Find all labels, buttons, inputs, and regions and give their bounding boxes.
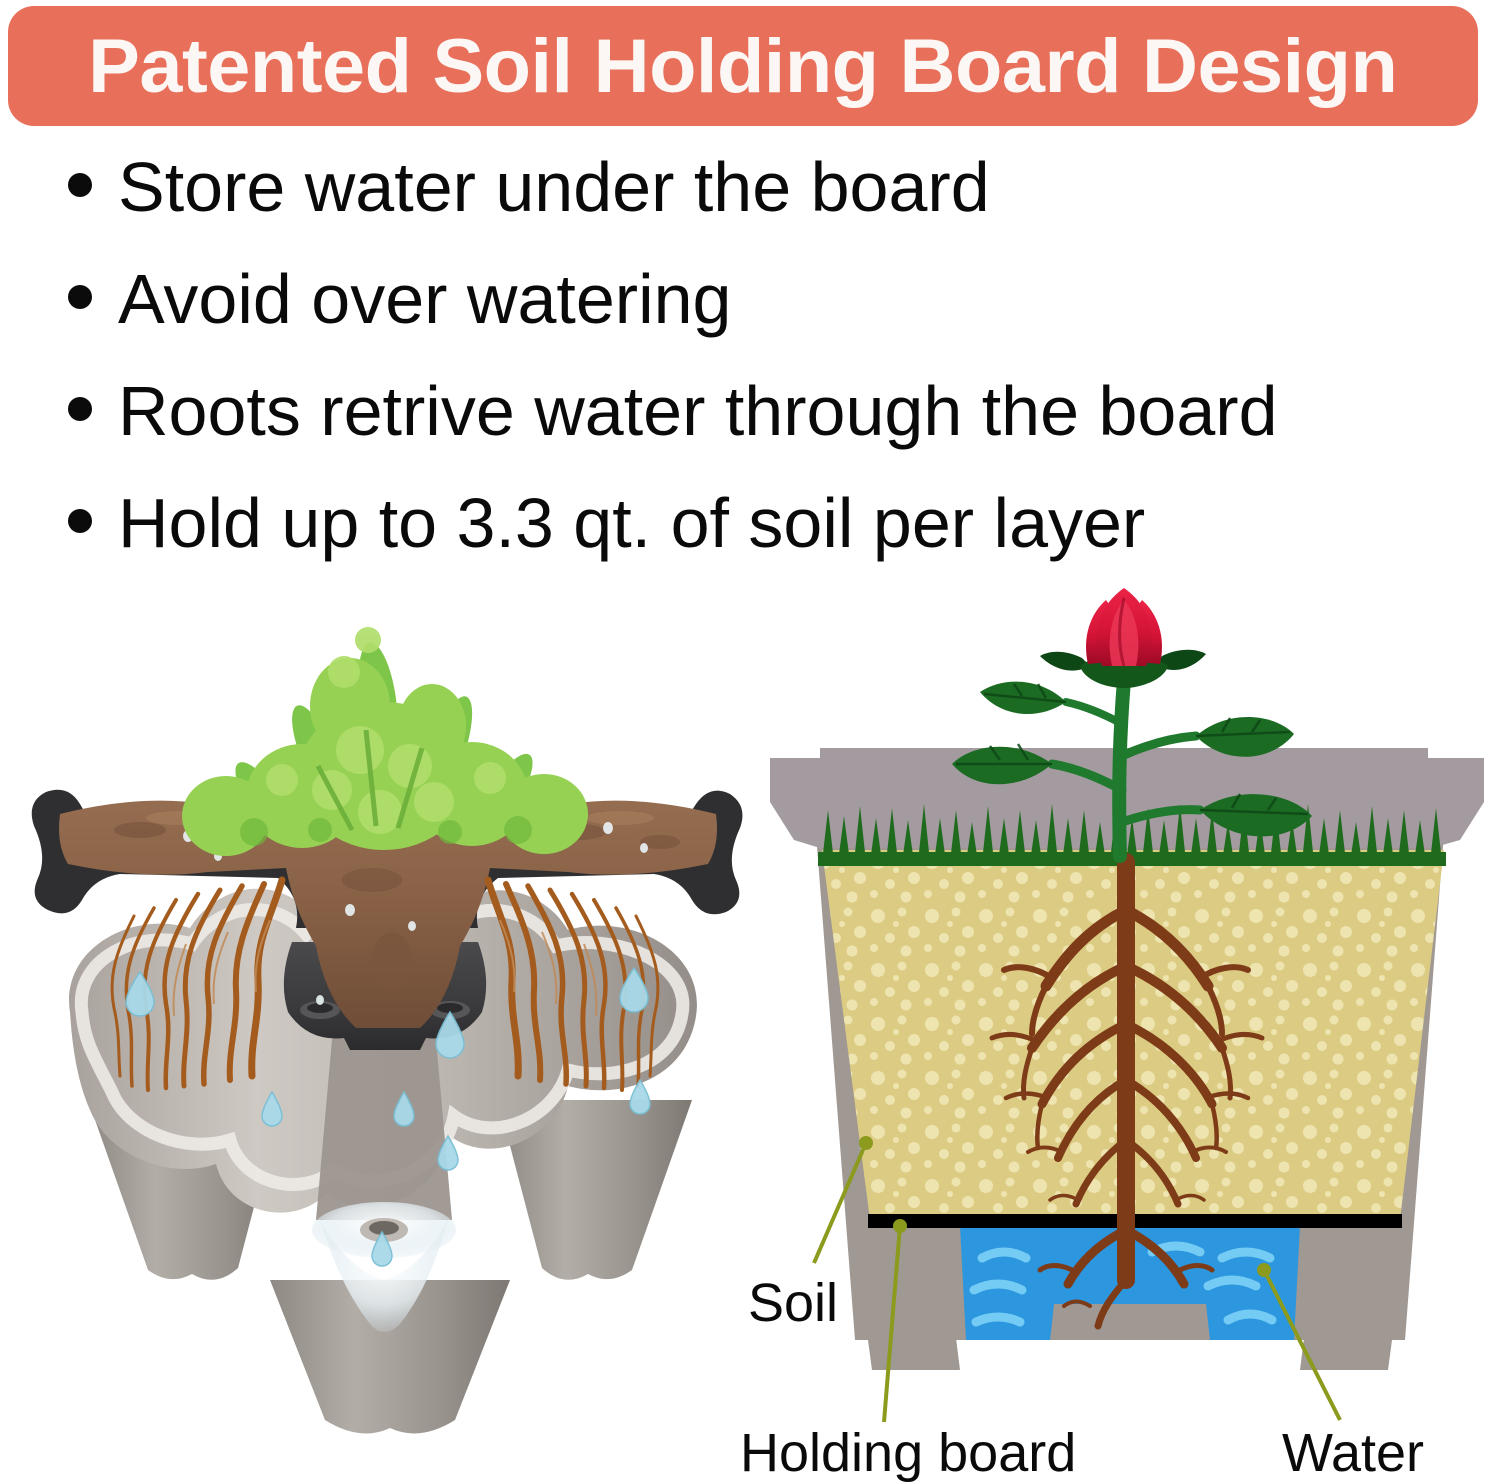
feature-list: Store water under the board Avoid over w… [40,152,1470,600]
list-item: Hold up to 3.3 qt. of soil per layer [40,488,1470,588]
header-banner: Patented Soil Holding Board Design [8,6,1478,126]
list-item-label: Hold up to 3.3 qt. of soil per layer [118,488,1145,558]
list-item-label: Roots retrive water through the board [118,376,1278,446]
leader-dots [859,1136,1271,1277]
bullet-dot-icon [68,509,92,533]
bullet-dot-icon [68,173,92,197]
figure-area: Soil Holding board Water [0,580,1500,1477]
label-soil: Soil [748,1272,838,1334]
label-soil-text: Soil [748,1273,838,1333]
bullet-dot-icon [68,397,92,421]
product-infographic: Patented Soil Holding Board Design Store… [0,0,1500,1477]
bullet-dot-icon [68,285,92,309]
list-item: Avoid over watering [40,264,1470,364]
label-water: Water [1282,1422,1424,1484]
page-title: Patented Soil Holding Board Design [88,23,1397,110]
label-holding-board-text: Holding board [740,1423,1076,1483]
list-item: Roots retrive water through the board [40,376,1470,476]
label-holding-board: Holding board [740,1422,1076,1484]
callout-layer [0,580,1500,1477]
label-water-text: Water [1282,1423,1424,1483]
list-item-label: Store water under the board [118,152,990,222]
list-item-label: Avoid over watering [118,264,732,334]
list-item: Store water under the board [40,152,1470,252]
